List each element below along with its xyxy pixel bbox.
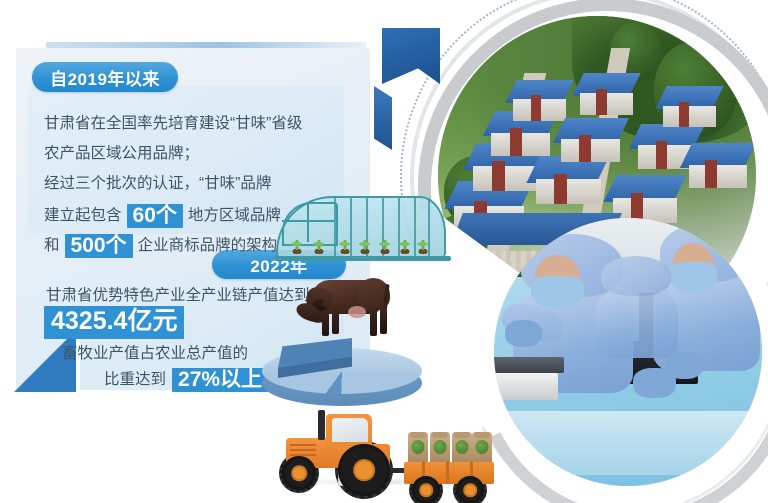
p2-line-2: 畜牧业产值占农业总产值的	[62, 346, 248, 362]
highlight-total-output-value: 4325.4亿元	[44, 306, 184, 339]
factory-table	[494, 411, 762, 475]
p1-line-2: 农产品区域公用品牌；	[44, 146, 199, 162]
factory-worker	[601, 256, 671, 352]
p1-line-1: 甘肃省在全国率先培育建设“甘味”省级	[44, 116, 302, 132]
p1-line-4: 建立起包含 60个 地方区域品牌	[44, 204, 281, 228]
weighing-scale-tray	[494, 357, 564, 373]
badge-since-2019: 自2019年以来	[32, 62, 178, 92]
p1-line-5-suffix: 企业商标品牌的架构	[138, 238, 278, 254]
village-house	[661, 86, 718, 127]
p1-line-4-suffix: 地方区域品牌	[188, 208, 281, 224]
trailer-wheel	[456, 476, 484, 503]
p2-line-3-prefix: 比重达到	[104, 372, 166, 388]
village-house	[686, 143, 750, 188]
p2-line-3: 比重达到 27%以上	[104, 368, 268, 392]
infographic-canvas: 自2019年以来 2022年 甘肃省在全国率先培育建设“甘味”省级 农产品区域公…	[0, 0, 768, 503]
worker-glove	[505, 320, 543, 347]
tractor-icon	[276, 408, 476, 496]
p2-line-1: 甘肃省优势特色产业全产业链产值达到	[46, 288, 310, 304]
p1-line-5: 和 500个 企业商标品牌的架构	[44, 234, 277, 258]
greenhouse-icon	[276, 196, 446, 258]
pie-slice-27-percent	[278, 338, 352, 368]
p1-line-5-prefix: 和	[44, 238, 60, 254]
tractor-trailer	[404, 432, 494, 484]
highlight-500: 500个	[65, 234, 133, 258]
weighing-scale	[494, 373, 558, 400]
highlight-60: 60个	[127, 204, 183, 228]
trailer-wheel	[412, 476, 440, 503]
village-house	[511, 80, 568, 121]
food-processing-photo	[494, 218, 762, 486]
tractor-front-wheel	[282, 456, 316, 490]
village-house	[559, 118, 623, 163]
highlight-27-percent: 27%以上	[172, 368, 268, 392]
cow-icon	[296, 276, 394, 338]
worker-glove	[666, 352, 704, 379]
p1-line-3: 经过三个批次的认证，“甘味”品牌	[44, 176, 271, 192]
village-house	[578, 73, 635, 114]
tractor-rear-wheel	[338, 444, 390, 496]
village-house	[533, 156, 603, 204]
pie-chart	[256, 340, 428, 414]
p1-line-4-prefix: 建立起包含	[44, 208, 122, 224]
